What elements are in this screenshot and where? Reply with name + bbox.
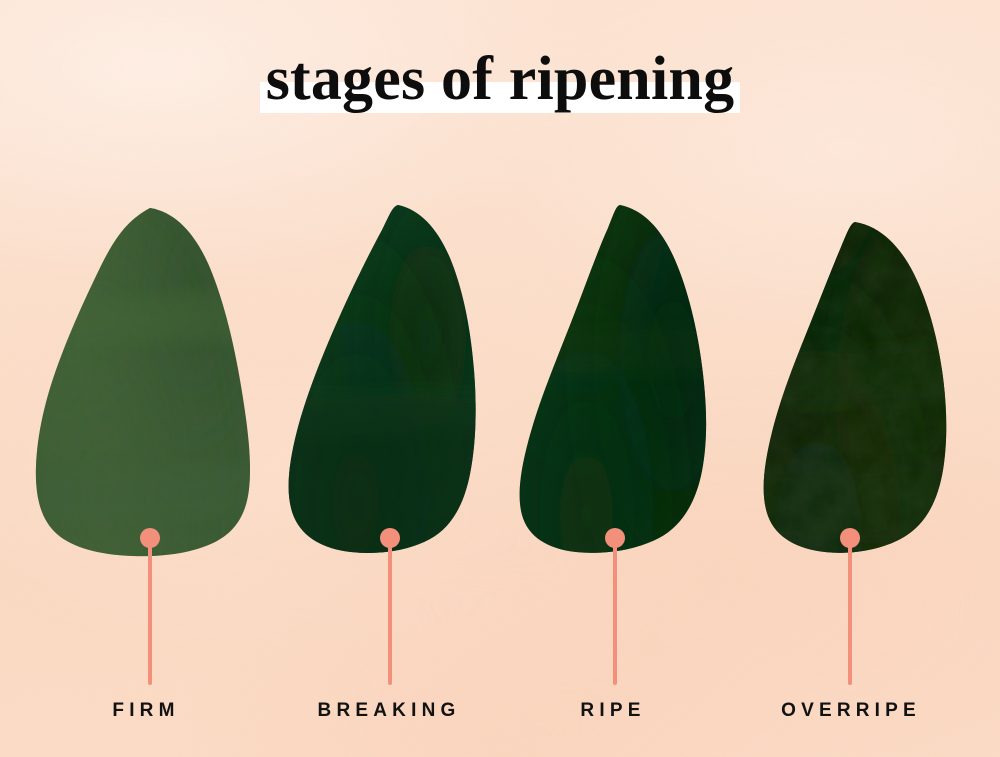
connector-line-firm [148, 540, 152, 685]
connector-line-breaking [388, 540, 392, 685]
stage-label-ripe: RIPE [580, 700, 645, 722]
stage-overripe[interactable]: OVERRIPE [740, 0, 1000, 757]
poster-canvas: stages of ripening [0, 0, 1000, 757]
connector-line-ripe [613, 540, 617, 685]
stage-label-firm: FIRM [112, 700, 179, 722]
avocado-icon-overripe [740, 0, 1000, 600]
avocado-icon-ripe [500, 0, 740, 600]
stage-breaking[interactable]: BREAKING [260, 0, 500, 757]
stage-ripe[interactable]: RIPE [500, 0, 740, 757]
ripening-stage-row: FIRM [0, 0, 1000, 757]
connector-dot-firm [140, 528, 160, 548]
avocado-icon-breaking [260, 0, 500, 600]
stage-label-breaking: BREAKING [318, 700, 461, 722]
stage-firm[interactable]: FIRM [0, 0, 260, 757]
connector-dot-ripe [605, 528, 625, 548]
avocado-icon-firm [0, 0, 260, 600]
connector-line-overripe [848, 540, 852, 685]
connector-dot-breaking [380, 528, 400, 548]
connector-dot-overripe [840, 528, 860, 548]
stage-label-overripe: OVERRIPE [781, 700, 921, 722]
